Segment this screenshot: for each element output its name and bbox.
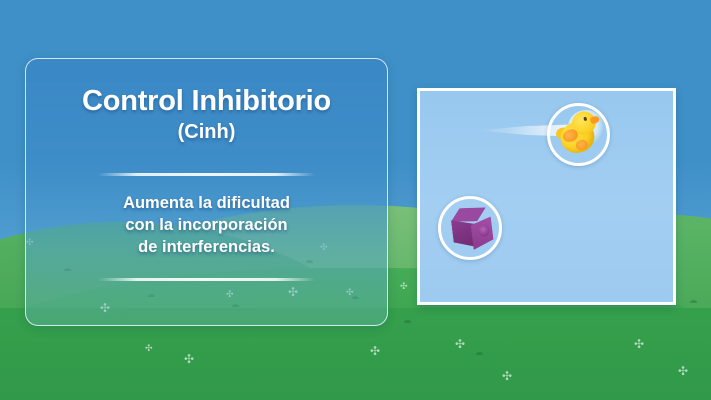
slide-stage: ✣ ✣ ✣ ✣ ✣ ✣ ✣ ✣ ✣ ✣ ✣ ✣ ✣ ✣ ✣ Control In… bbox=[0, 0, 711, 400]
info-card: Control Inhibitorio (Cinh) Aumenta la di… bbox=[25, 58, 388, 326]
cube-icon[interactable] bbox=[448, 205, 495, 252]
game-panel bbox=[417, 88, 676, 305]
duck-beak bbox=[590, 115, 601, 124]
game-canvas bbox=[420, 91, 673, 302]
card-description: Aumenta la dificultad con la incorporaci… bbox=[123, 193, 290, 258]
card-subtitle: (Cinh) bbox=[178, 121, 236, 144]
divider-bottom bbox=[98, 278, 315, 281]
description-line-2: con la incorporación bbox=[123, 215, 290, 237]
description-line-1: Aumenta la dificultad bbox=[123, 193, 290, 215]
divider-top bbox=[98, 173, 315, 176]
description-line-3: de interferencias. bbox=[123, 237, 290, 259]
card-title: Control Inhibitorio bbox=[82, 85, 331, 118]
